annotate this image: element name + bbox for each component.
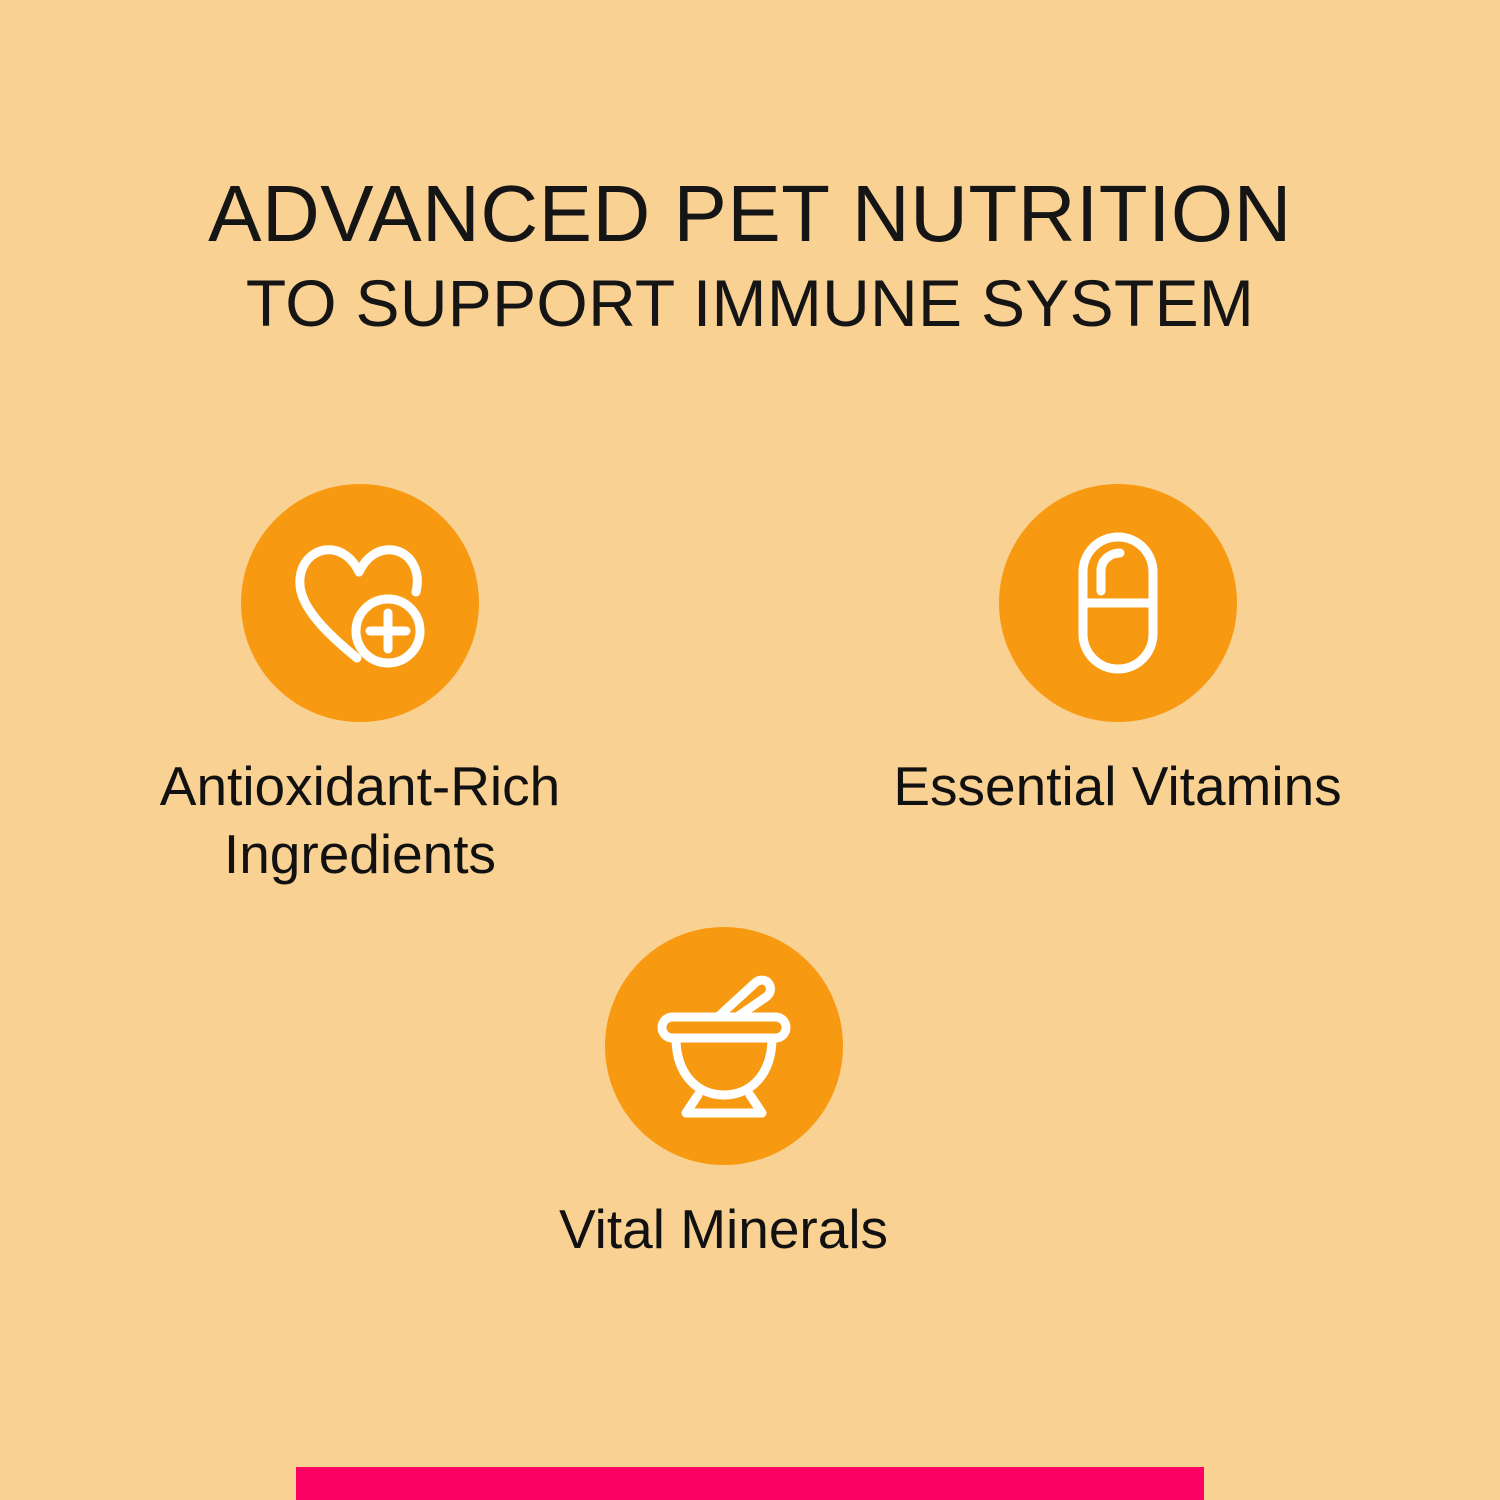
capsule-pill-icon xyxy=(1043,528,1193,678)
poster-canvas: ADVANCED PET NUTRITION TO SUPPORT IMMUNE… xyxy=(0,0,1500,1500)
feature-item-minerals: Vital Minerals xyxy=(436,927,1011,1263)
feature-label-antioxidant: Antioxidant-Rich Ingredients xyxy=(70,752,650,888)
feature-label-antioxidant-line2: Ingredients xyxy=(224,823,496,885)
heart-plus-icon xyxy=(285,528,435,678)
feature-label-minerals: Vital Minerals xyxy=(436,1195,1011,1263)
feature-icon-badge-minerals xyxy=(605,927,843,1165)
headline-primary: ADVANCED PET NUTRITION xyxy=(0,168,1500,260)
feature-label-vitamins-line1: Essential Vitamins xyxy=(893,755,1341,817)
feature-label-minerals-line1: Vital Minerals xyxy=(559,1198,888,1260)
page-title: ADVANCED PET NUTRITION TO SUPPORT IMMUNE… xyxy=(0,168,1500,342)
feature-icon-badge-vitamins xyxy=(999,484,1237,722)
mortar-pestle-icon xyxy=(649,971,799,1121)
feature-item-vitamins: Essential Vitamins xyxy=(830,484,1405,820)
feature-icon-badge-antioxidant xyxy=(241,484,479,722)
feature-label-antioxidant-line1: Antioxidant-Rich xyxy=(160,755,560,817)
bottom-accent-bar xyxy=(296,1467,1204,1500)
headline-secondary: TO SUPPORT IMMUNE SYSTEM xyxy=(0,264,1500,342)
feature-item-antioxidant: Antioxidant-Rich Ingredients xyxy=(70,484,650,888)
feature-label-vitamins: Essential Vitamins xyxy=(830,752,1405,820)
